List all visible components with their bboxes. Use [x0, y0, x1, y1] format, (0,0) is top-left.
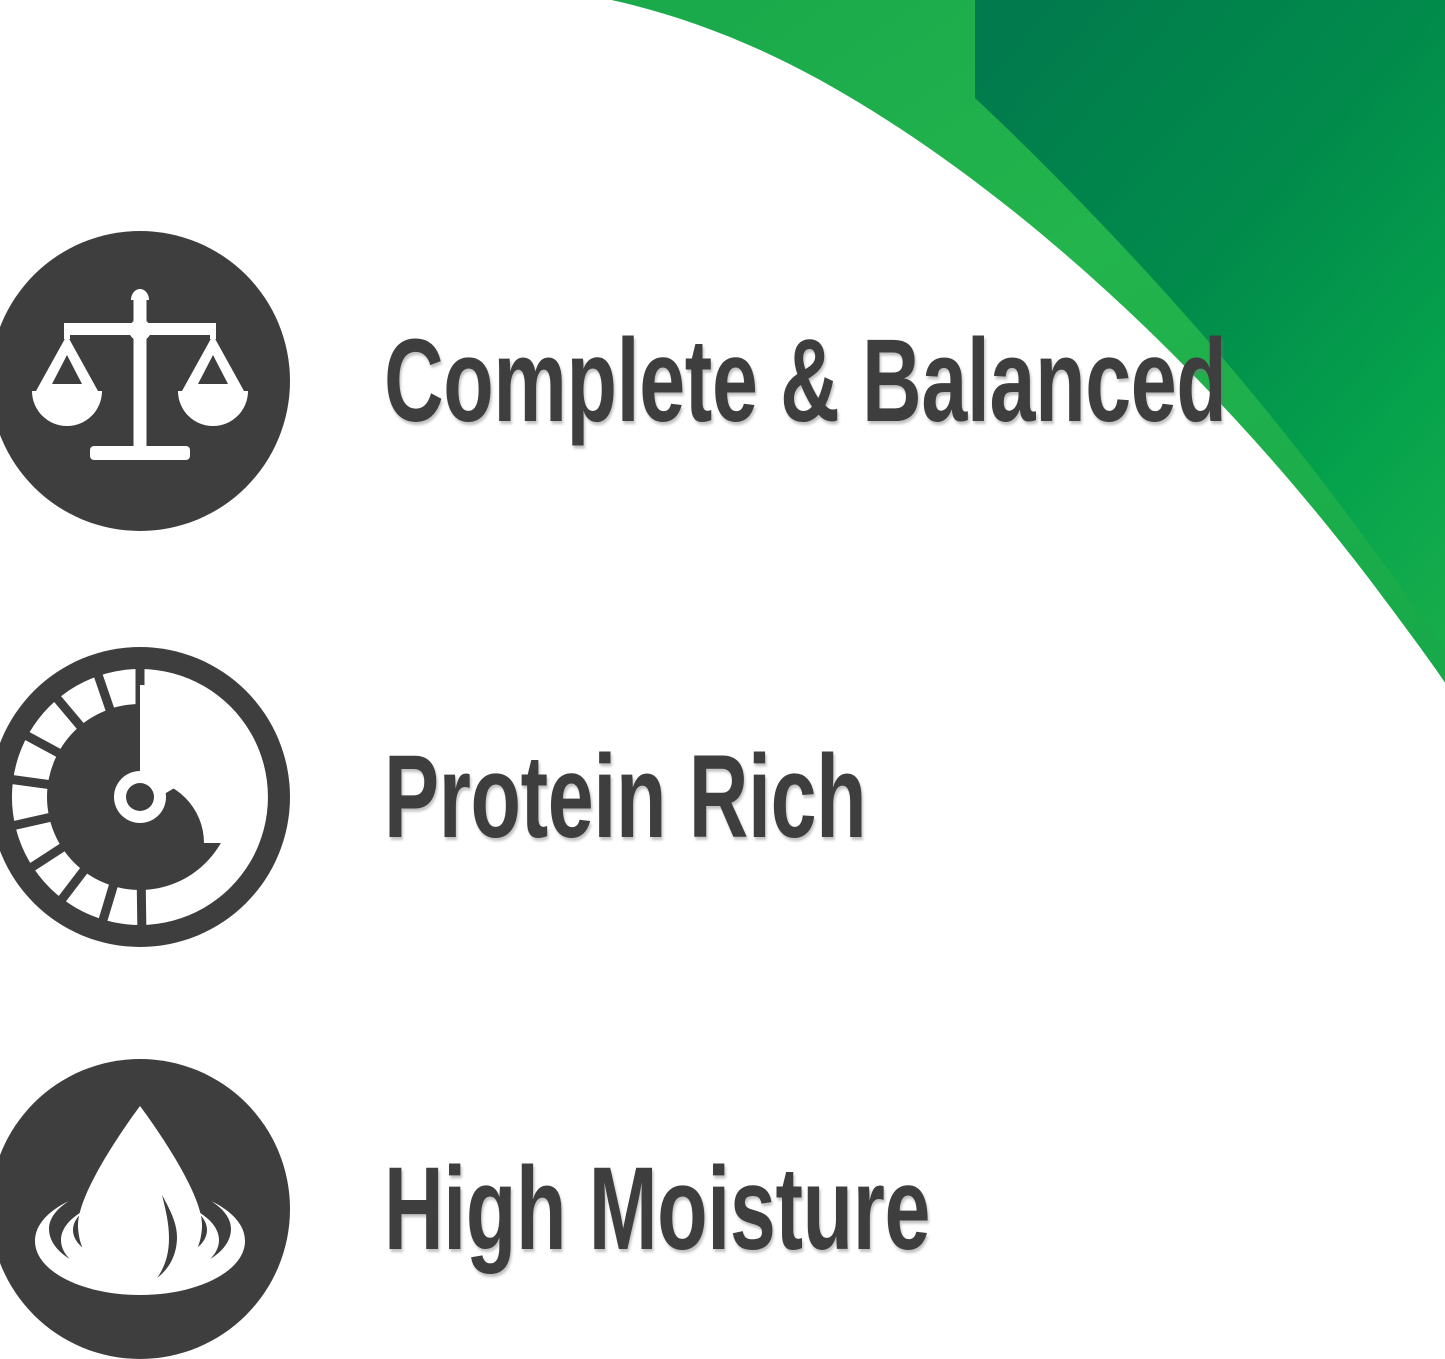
- feature-row: High Moisture: [0, 1059, 1445, 1359]
- feature-label: High Moisture: [384, 1150, 1127, 1268]
- feature-highlights-panel: Complete & Balanced: [0, 0, 1445, 1359]
- gauge-meter-icon: [0, 647, 290, 947]
- feature-row: Complete & Balanced: [0, 231, 1445, 531]
- feature-label: Complete & Balanced: [384, 322, 1227, 440]
- feature-label: Protein Rich: [384, 738, 1127, 856]
- balance-scale-icon: [0, 231, 290, 531]
- water-drop-icon: [0, 1059, 290, 1359]
- feature-row: Protein Rich: [0, 648, 1445, 946]
